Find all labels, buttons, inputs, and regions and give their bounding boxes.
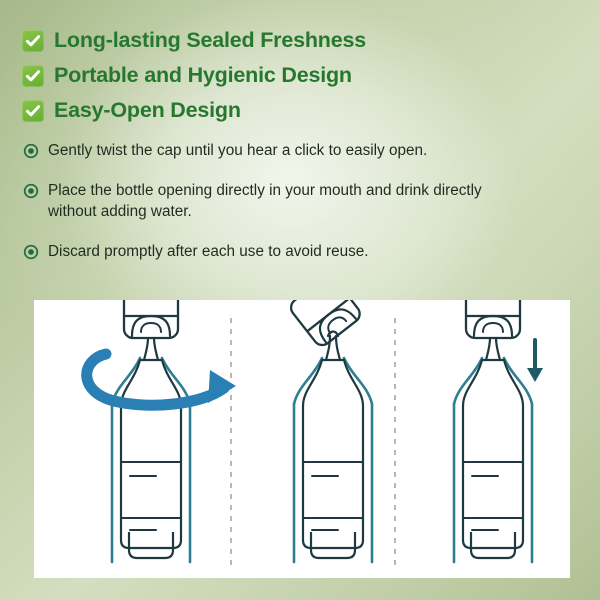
reclose-cap-step [454,300,543,562]
feature-heading-item-1: Long-lasting Sealed Freshness [22,24,578,57]
product-instruction-poster: Long-lasting Sealed Freshness Portable a… [0,0,600,600]
feature-heading-label: Long-lasting Sealed Freshness [54,28,366,53]
check-mark-button-icon [22,100,44,122]
remove-cap-step [287,300,372,562]
check-mark-button-icon [22,30,44,52]
down-arrow-icon [527,340,543,382]
instruction-text: Discard promptly after each use to avoid… [48,241,369,262]
instruction-text: Gently twist the cap until you hear a cl… [48,140,427,161]
instruction-text: Place the bottle opening directly in you… [48,180,518,222]
radio-dot-icon [23,244,39,260]
twist-cap-step [87,300,236,562]
instruction-item: Gently twist the cap until you hear a cl… [23,140,563,161]
illustration-panel [34,300,570,578]
feature-heading-label: Easy-Open Design [54,98,241,123]
feature-heading-item-2: Portable and Hygienic Design [22,59,578,92]
feature-heading-label: Portable and Hygienic Design [54,63,352,88]
check-mark-button-icon [22,65,44,87]
radio-dot-icon [23,183,39,199]
feature-heading-item-3: Easy-Open Design [22,94,578,127]
instruction-item: Place the bottle opening directly in you… [23,180,563,222]
radio-dot-icon [23,143,39,159]
instruction-list: Gently twist the cap until you hear a cl… [23,140,563,281]
instruction-item: Discard promptly after each use to avoid… [23,241,563,262]
feature-heading-list: Long-lasting Sealed Freshness Portable a… [22,24,578,129]
